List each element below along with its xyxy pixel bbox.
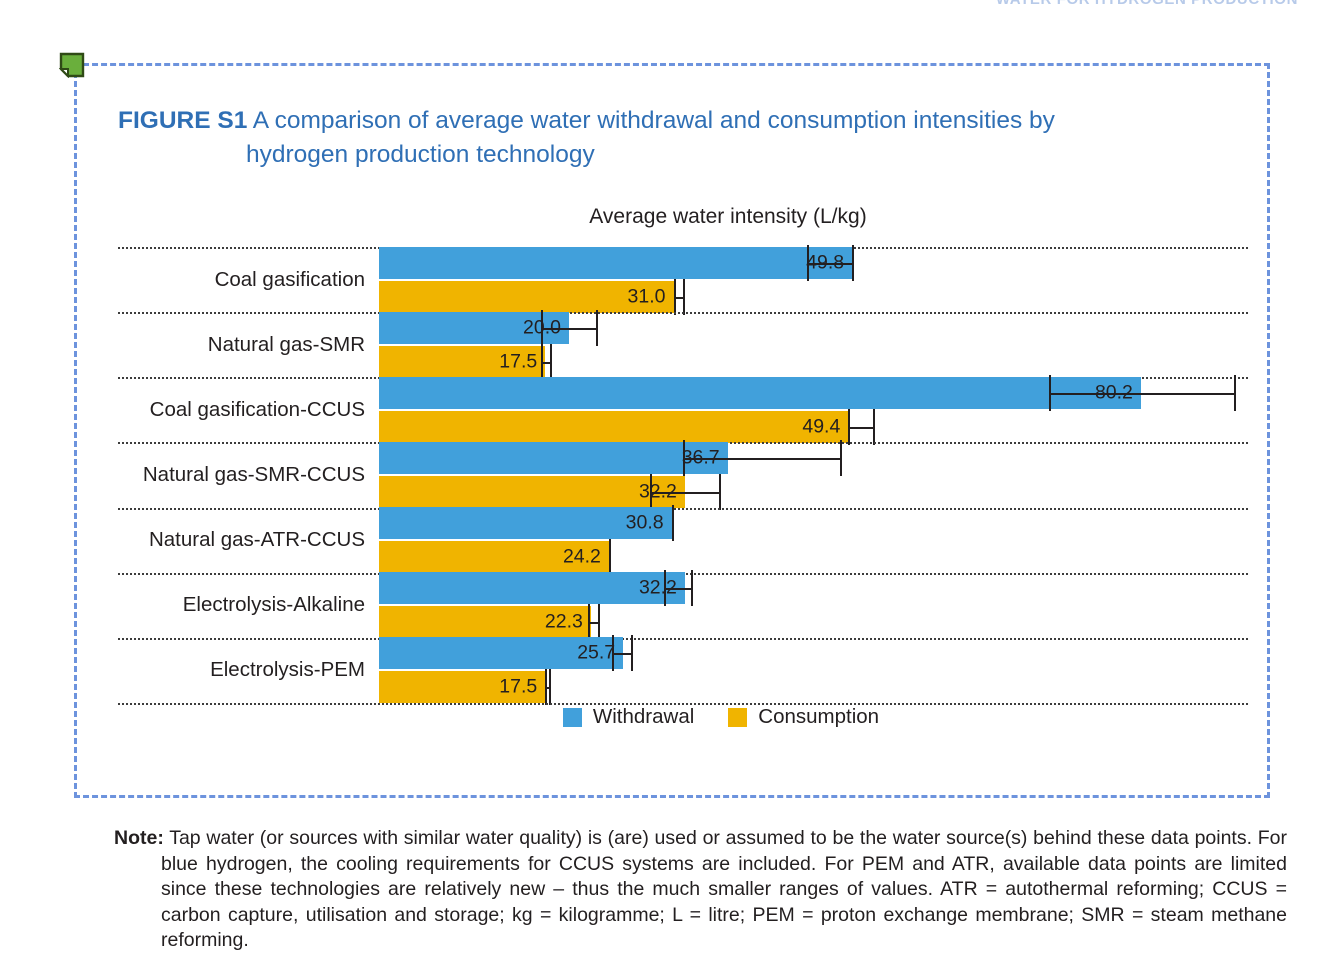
error-bar-cap-high — [719, 474, 721, 510]
bar-value-label: 17.5 — [499, 350, 537, 373]
category-axis-labels: Coal gasificationNatural gas-SMRCoal gas… — [118, 247, 379, 703]
green-flag-marker-icon[interactable] — [59, 52, 85, 78]
error-bar-cap-low — [545, 669, 547, 705]
error-bar-cap-high — [873, 409, 875, 445]
error-bar-cap-high — [683, 279, 685, 315]
error-bar-cap-low — [807, 245, 809, 281]
error-bar-cap-low — [664, 570, 666, 606]
error-bar-line — [848, 427, 873, 429]
figure-title-line1: A comparison of average water withdrawal… — [247, 107, 1055, 134]
error-bar-cap-low — [674, 279, 676, 315]
error-bar-line — [612, 653, 631, 655]
error-bar-cap-high — [550, 344, 552, 380]
error-bar-line — [1049, 393, 1234, 395]
chart-plot-area: Coal gasificationNatural gas-SMRCoal gas… — [118, 247, 1248, 703]
gridline — [118, 508, 1248, 510]
bar-value-label: 24.2 — [563, 546, 601, 569]
bar-withdrawal — [379, 247, 852, 279]
category-label: Natural gas-ATR-CCUS — [149, 528, 365, 552]
error-bar-line — [664, 588, 691, 590]
legend-label: Withdrawal — [593, 705, 694, 729]
legend-item[interactable]: Withdrawal — [563, 705, 694, 729]
error-bar-cap-high — [840, 440, 842, 476]
bar-value-label: 49.4 — [802, 415, 840, 438]
bar-value-label: 30.8 — [626, 512, 664, 535]
error-bar-cap-low — [848, 409, 850, 445]
bar-withdrawal — [379, 377, 1141, 409]
error-bar-cap-low — [541, 310, 543, 346]
category-label: Coal gasification — [215, 268, 365, 292]
chart-legend: WithdrawalConsumption — [118, 705, 1248, 729]
error-bar-cap-low — [541, 344, 543, 380]
error-bar-cap-high — [596, 310, 598, 346]
error-bar-cap-low — [683, 440, 685, 476]
error-bar-cap-high — [852, 245, 854, 281]
error-bar-cap-high — [549, 669, 551, 705]
chart-axis-title: Average water intensity (L/kg) — [118, 205, 1248, 229]
error-bar-cap-high — [631, 635, 633, 671]
bar-withdrawal — [379, 442, 728, 474]
category-label: Coal gasification-CCUS — [150, 398, 365, 422]
error-bar-cap-high — [691, 570, 693, 606]
running-head: WATER FOR HYDROGEN PRODUCTION — [0, 0, 1344, 8]
category-label: Natural gas-SMR-CCUS — [143, 463, 365, 487]
bar-value-label: 17.5 — [499, 676, 537, 699]
error-bar-cap-high — [672, 505, 674, 541]
error-bar-line — [683, 458, 840, 460]
legend-swatch-icon — [728, 708, 747, 727]
error-bar-cap-low — [588, 604, 590, 640]
error-bar-cap-low — [650, 474, 652, 510]
category-label: Electrolysis-PEM — [210, 658, 365, 682]
bars-area: 49.831.020.017.580.249.436.732.230.824.2… — [379, 247, 1248, 703]
error-bar-cap-high — [598, 604, 600, 640]
figure-title: FIGURE S1 A comparison of average water … — [118, 104, 1188, 172]
bar-value-label: 22.3 — [545, 611, 583, 634]
bar-consumption — [379, 411, 848, 443]
legend-swatch-icon — [563, 708, 582, 727]
error-bar-cap-high — [1234, 375, 1236, 411]
note-label: Note: — [114, 827, 164, 849]
category-label: Electrolysis-Alkaline — [183, 593, 365, 617]
category-label: Natural gas-SMR — [208, 333, 365, 357]
bar-value-label: 25.7 — [577, 642, 615, 665]
error-bar-line — [650, 492, 719, 494]
figure-label: FIGURE S1 — [118, 107, 247, 134]
bar-value-label: 31.0 — [628, 285, 666, 308]
gridline — [118, 638, 1248, 640]
chart-container: Average water intensity (L/kg) Coal gasi… — [118, 205, 1248, 765]
error-bar-cap-high — [609, 539, 611, 575]
figure-title-line2: hydrogen production technology — [118, 138, 1188, 172]
gridline — [118, 312, 1248, 314]
error-bar-cap-low — [612, 635, 614, 671]
figure-note: Note: Tap water (or sources with similar… — [114, 826, 1287, 954]
legend-item[interactable]: Consumption — [728, 705, 879, 729]
error-bar-cap-low — [1049, 375, 1051, 411]
error-bar-line — [541, 328, 596, 330]
legend-label: Consumption — [758, 705, 879, 729]
note-text: Tap water (or sources with similar water… — [161, 827, 1287, 951]
error-bar-line — [807, 263, 853, 265]
